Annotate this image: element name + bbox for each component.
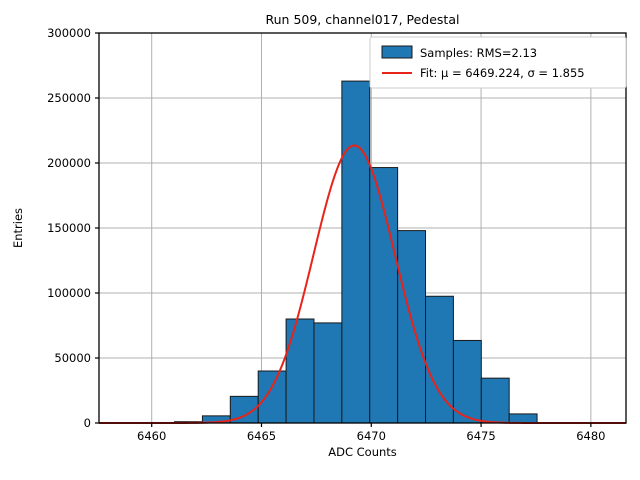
histogram-bar [398,231,426,423]
x-axis-label: ADC Counts [328,445,397,459]
x-tick-label-6465: 6465 [247,429,276,443]
histogram-bar [342,81,370,423]
histogram-bar [314,323,342,423]
figure-canvas: 6460646564706475648005000010000015000020… [0,0,640,480]
x-tick-label-6470: 6470 [357,429,386,443]
legend-label-fit: Fit: μ = 6469.224, σ = 1.855 [420,66,585,80]
x-tick-label-6475: 6475 [466,429,495,443]
y-tick-label-0: 0 [84,416,91,430]
histogram-bar [509,414,537,423]
legend-swatch-samples [382,46,412,58]
legend-label-samples: Samples: RMS=2.13 [420,46,537,60]
histogram-bar [258,371,286,423]
y-axis-label: Entries [11,208,25,248]
histogram-bar [481,378,509,423]
y-tick-label-300000: 300000 [47,26,91,40]
x-tick-label-6480: 6480 [576,429,605,443]
chart-title: Run 509, channel017, Pedestal [266,12,460,27]
y-tick-label-150000: 150000 [47,221,91,235]
histogram-bar [453,340,481,423]
x-tick-label-6460: 6460 [137,429,166,443]
pedestal-histogram-chart: 6460646564706475648005000010000015000020… [0,0,640,480]
y-tick-label-250000: 250000 [47,91,91,105]
histogram-bar [286,319,314,423]
y-tick-label-100000: 100000 [47,286,91,300]
legend-box[interactable] [370,37,626,88]
y-tick-label-50000: 50000 [54,351,91,365]
y-tick-label-200000: 200000 [47,156,91,170]
